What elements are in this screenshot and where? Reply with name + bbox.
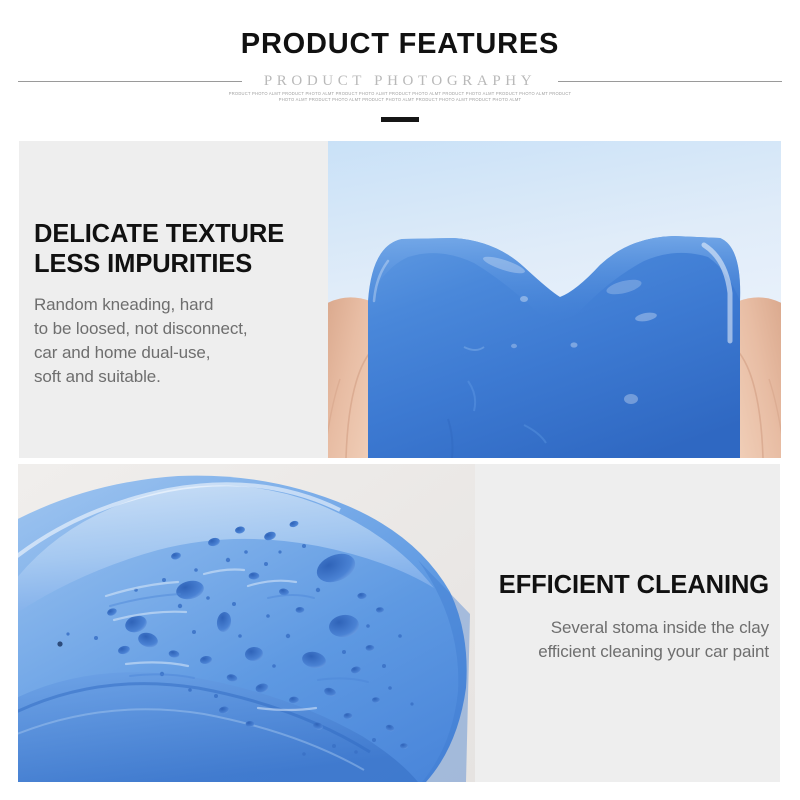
feature-body-top-line-3: car and home dual-use, (34, 341, 330, 365)
photo-hands-squeezing-clay-art (328, 141, 781, 458)
feature-heading-top-line-2: LESS IMPURITIES (34, 249, 330, 279)
feature-text-panel-bottom: EFFICIENT CLEANING Several stoma inside … (475, 464, 780, 782)
feature-text-panel-top: DELICATE TEXTURE LESS IMPURITIES Random … (19, 141, 328, 458)
photo-hands-squeezing-clay (328, 141, 781, 458)
feature-section-delicate-texture: DELICATE TEXTURE LESS IMPURITIES Random … (19, 141, 781, 458)
dark-speck (57, 641, 62, 646)
feature-body-top: Random kneading, hard to be loosed, not … (34, 293, 330, 389)
feature-body-bottom-line-2: efficient cleaning your car paint (469, 640, 769, 664)
title-accent-dash (381, 117, 419, 122)
feature-body-bottom: Several stoma inside the clay efficient … (469, 616, 769, 664)
subtitle-rule-group: PRODUCT PHOTOGRAPHY (18, 70, 782, 92)
feature-body-top-line-4: soft and suitable. (34, 365, 330, 389)
feature-section-efficient-cleaning: EFFICIENT CLEANING Several stoma inside … (18, 464, 780, 782)
page-title: PRODUCT FEATURES (0, 27, 800, 61)
microtext-line-2: PHOTO ALMT PRODUCT PHOTO ALMT PRODUCT PH… (100, 97, 700, 103)
feature-text-block-bottom: EFFICIENT CLEANING Several stoma inside … (469, 570, 769, 664)
page-header: PRODUCT FEATURES PRODUCT PHOTOGRAPHY PRO… (0, 0, 800, 141)
photo-porous-clay-art (18, 464, 475, 782)
divider-line-right (558, 81, 782, 82)
feature-photo-bottom (18, 464, 475, 782)
feature-heading-top: DELICATE TEXTURE LESS IMPURITIES (34, 219, 330, 279)
feature-heading-bottom-line-1: EFFICIENT CLEANING (469, 570, 769, 600)
feature-heading-top-line-1: DELICATE TEXTURE (34, 219, 330, 249)
decorative-microtext: PRODUCT PHOTO ALMT PRODUCT PHOTO ALMT PR… (100, 91, 700, 103)
divider-line-left (18, 81, 242, 82)
feature-text-block-top: DELICATE TEXTURE LESS IMPURITIES Random … (34, 219, 330, 389)
feature-body-bottom-line-1: Several stoma inside the clay (469, 616, 769, 640)
page-subtitle: PRODUCT PHOTOGRAPHY (242, 73, 558, 90)
feature-body-top-line-2: to be loosed, not disconnect, (34, 317, 330, 341)
feature-photo-top (328, 141, 781, 458)
feature-body-top-line-1: Random kneading, hard (34, 293, 330, 317)
photo-porous-clay (18, 464, 475, 782)
feature-heading-bottom: EFFICIENT CLEANING (469, 570, 769, 600)
